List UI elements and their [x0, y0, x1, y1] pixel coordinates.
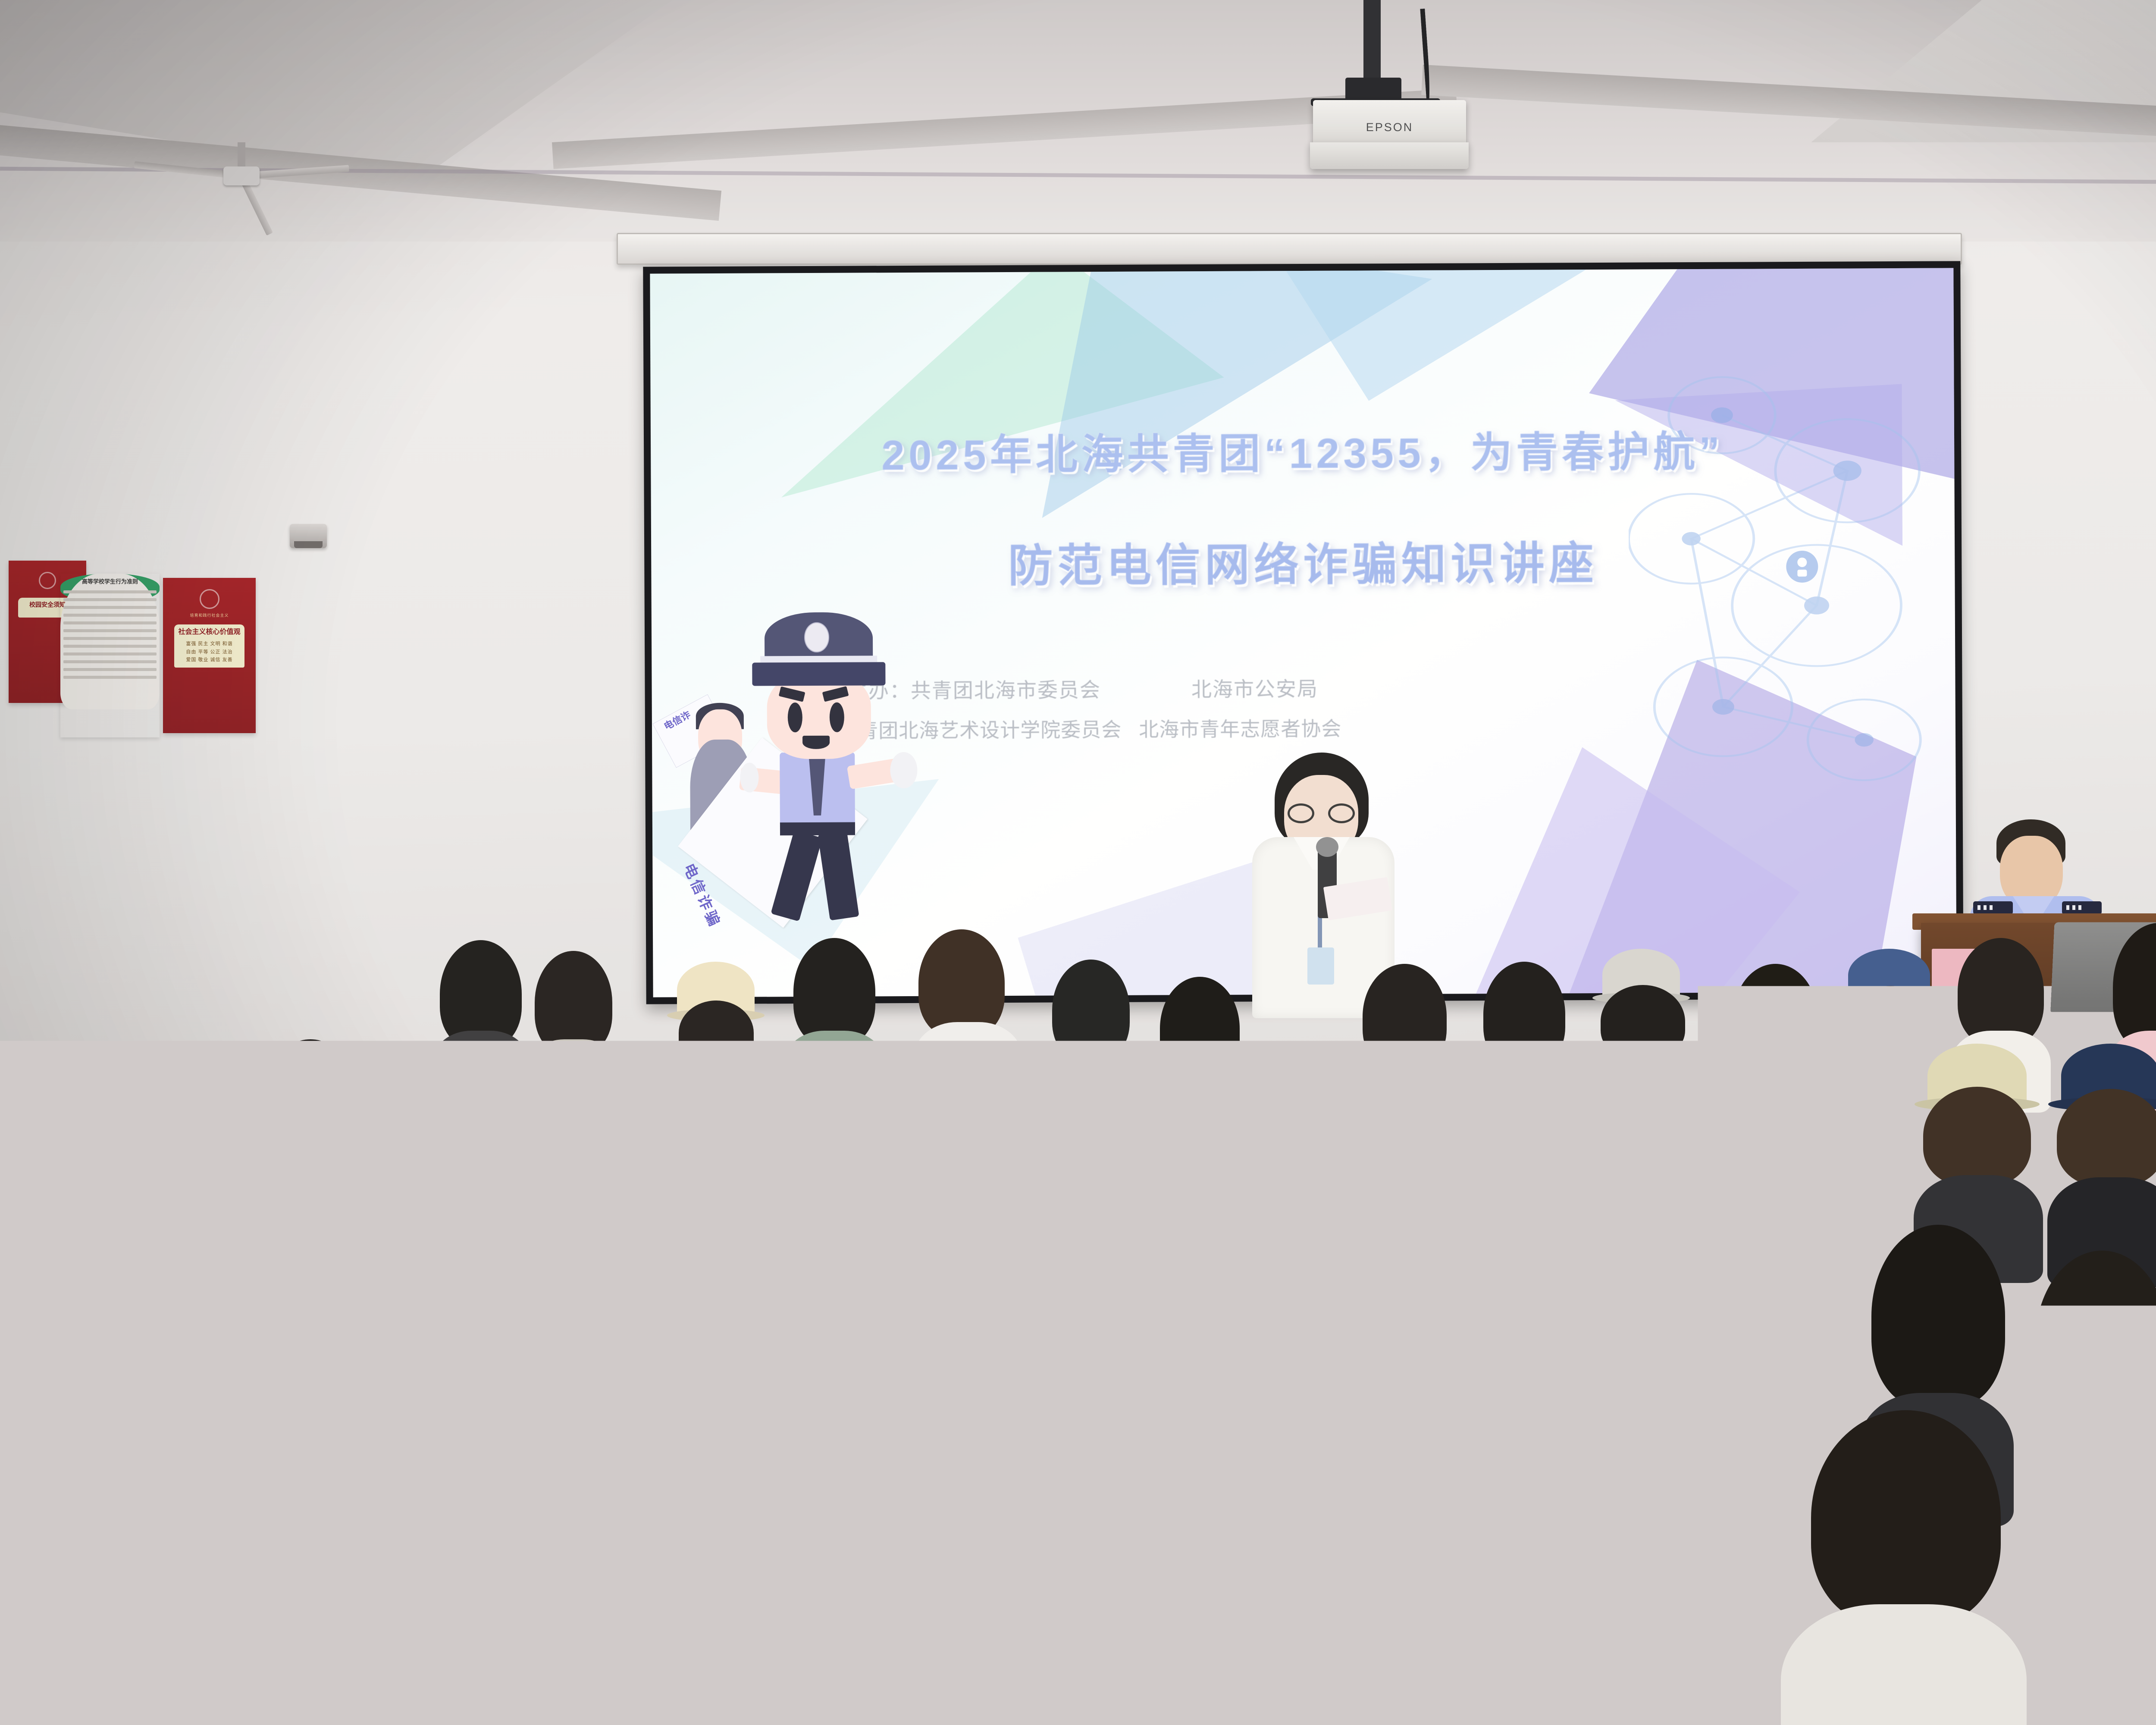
person-hair	[1328, 1466, 1522, 1669]
person-hair	[1117, 1091, 1225, 1240]
person-hair	[1522, 1087, 1630, 1236]
mascot-handcuff	[740, 762, 759, 793]
audience-member	[129, 1052, 229, 1233]
projection-screen-case	[617, 233, 1962, 265]
police-mascot-illustration: 电信诈 电信诈骗	[710, 605, 920, 939]
audience-member	[673, 1048, 776, 1238]
audience-member	[647, 1233, 776, 1475]
person-hair	[1535, 1233, 1669, 1417]
audience-member	[1117, 1091, 1225, 1289]
cup-lid	[1402, 1364, 1464, 1382]
audience-member	[1561, 1436, 1755, 1725]
person-hair	[1811, 1410, 2001, 1626]
audience-member	[371, 1354, 556, 1699]
audience-member	[259, 1039, 362, 1229]
person-torso	[1531, 1630, 1777, 1725]
slide-host-org2: 北海市公安局	[1191, 672, 1318, 703]
poster-core-values: 培育和践行社会主义 社会主义核心价值观 富强 民主 文明 和谐 自由 平等 公正…	[163, 578, 256, 733]
poster-core-values-top: 培育和践行社会主义	[190, 612, 229, 618]
core-value-line-1: 富强 民主 文明 和谐	[176, 640, 243, 648]
person-hair	[2035, 1251, 2156, 1434]
poster-emblem-icon	[39, 572, 56, 589]
person-hair	[543, 1065, 642, 1203]
person-torso	[112, 1600, 354, 1725]
person-hair	[1052, 960, 1130, 1061]
person-hair	[970, 1074, 1078, 1220]
person-hair	[0, 1182, 112, 1354]
audience-member	[1160, 977, 1240, 1110]
person-hair	[1958, 938, 2044, 1046]
mascot-belt	[780, 822, 855, 836]
person-torso	[802, 1639, 1048, 1725]
audience-shirt-text: adidas	[1420, 1227, 1477, 1248]
person-hair	[2061, 1440, 2156, 1656]
audience-member	[2104, 1630, 2156, 1725]
fan-hub	[223, 166, 260, 185]
person-hair	[793, 938, 875, 1046]
person-hair	[918, 929, 1005, 1037]
audience-shirt-text: RY MOVIES.	[846, 1261, 922, 1274]
person-hair	[1363, 964, 1447, 1069]
person-hair	[1061, 1410, 1250, 1634]
tee-graphic-print	[1121, 1652, 1212, 1725]
audience-member	[1328, 1466, 1522, 1725]
slide-organizer-org2: 北海市青年志愿者协会	[1139, 713, 1341, 743]
speaker-id-badge	[1307, 947, 1334, 985]
person-hair	[1789, 1052, 1899, 1203]
mascot-right-leg	[818, 831, 859, 920]
audience-member	[832, 1458, 1022, 1725]
projector-mount-pole	[1363, 0, 1381, 91]
slide-title-line2: 防范电信网络诈骗知识讲座	[651, 525, 1955, 596]
mascot-left-eye	[788, 703, 802, 733]
person-hair	[1250, 1087, 1358, 1236]
core-value-line-2: 自由 平等 公正 法治	[176, 648, 243, 656]
person-hair	[129, 1212, 259, 1384]
officer-epaulette-right	[2062, 901, 2102, 914]
fan-rod	[238, 142, 245, 168]
speaker-glasses	[1288, 803, 1355, 823]
person-hair	[401, 1054, 502, 1197]
person-hair	[578, 1475, 772, 1682]
person-torso	[345, 1570, 578, 1725]
audience-member	[1923, 1044, 2035, 1251]
audience-member	[1811, 1410, 2001, 1725]
person-hair	[1871, 1225, 2005, 1408]
audience-member	[0, 1182, 112, 1423]
person-hair	[2057, 1089, 2156, 1186]
projector-brand-label: EPSON	[1313, 121, 1466, 134]
poster-title: 高等学校学生行为准则	[63, 577, 157, 585]
person-hair	[1483, 962, 1565, 1067]
person-hair	[815, 1087, 923, 1229]
slide-title-line1: 2025年北海共青团“12355，为青春护航”	[651, 416, 1955, 483]
audience-member-shirt-movies: RY MOVIES.	[815, 1087, 927, 1289]
person-torso	[1781, 1604, 2027, 1725]
poster-text-lines	[63, 590, 157, 679]
ceiling-fan-left	[129, 142, 354, 211]
lecture-hall-photo: EPSON	[0, 0, 2156, 1725]
audience-member	[2057, 1044, 2156, 1251]
audience-member-shirt-ng25: NG-25	[918, 929, 1013, 1093]
police-emblem-icon	[804, 622, 829, 652]
drink-cup	[1407, 1376, 1460, 1445]
person-hair	[647, 1233, 776, 1414]
audience-shirt-text: NG-25	[969, 1054, 1005, 1068]
person-hair	[1923, 1087, 2031, 1186]
person-hair	[673, 1048, 776, 1192]
mascot-cap-brim	[752, 662, 886, 686]
person-hair	[1160, 977, 1240, 1080]
audience-member	[142, 1393, 328, 1721]
mascot-fist	[890, 752, 917, 788]
person-hair	[1561, 1436, 1755, 1652]
person-torso	[552, 1660, 793, 1725]
person-hair	[1695, 1203, 1833, 1393]
mascot-right-eye	[829, 702, 844, 732]
person-cap	[2104, 1630, 2156, 1725]
person-hair	[979, 1251, 1112, 1436]
wall-sensor-left	[290, 524, 327, 548]
audience-member	[1483, 962, 1565, 1104]
core-value-line-3: 爱国 敬业 诚信 友善	[176, 656, 243, 664]
audience-member	[970, 1074, 1078, 1272]
poster-student-code: 北海艺术设计学院 高等学校学生行为准则	[60, 574, 160, 737]
person-torso	[1302, 1652, 1544, 1725]
poster-core-values-card: 社会主义核心价值观 富强 民主 文明 和谐 自由 平等 公正 法治 爱国 敬业 …	[174, 624, 244, 668]
person-hair	[142, 1393, 328, 1626]
poster-body: 高等学校学生行为准则	[60, 574, 160, 709]
audience-member	[1600, 949, 1686, 1095]
person-hair	[0, 1423, 147, 1647]
person-hair	[535, 951, 612, 1054]
person-hair	[371, 1354, 556, 1596]
person-hair	[832, 1458, 1022, 1660]
audience-member-shirt-adidas: adidas	[1371, 1065, 1483, 1268]
mascot-mouth	[802, 736, 830, 749]
projector-lens-housing	[1310, 142, 1469, 169]
audience-member	[578, 1475, 772, 1725]
person-hair	[259, 1039, 362, 1182]
audience-member	[793, 938, 875, 1080]
officer-epaulette-left	[1973, 901, 2013, 914]
audience-member	[1250, 1087, 1358, 1285]
slide-host-org1: 共青团北海市委员会	[911, 673, 1101, 704]
values-emblem-icon	[200, 589, 219, 609]
audience-member-graphic-tee	[1056, 1410, 1259, 1725]
poster-core-values-title: 社会主义核心价值观	[176, 628, 243, 637]
